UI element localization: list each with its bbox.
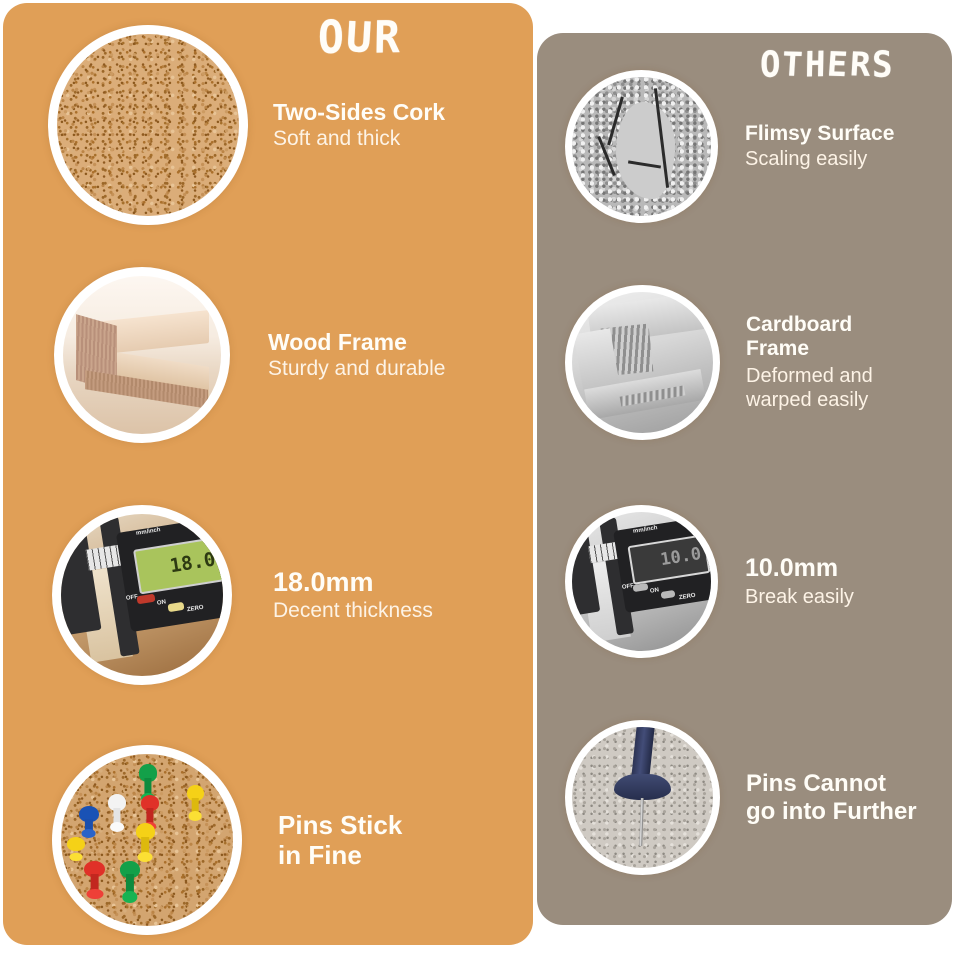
others-row-surface-subtitle: Scaling easily <box>745 147 894 171</box>
pin-green-lower <box>118 861 142 906</box>
our-row-wood: Wood Frame Sturdy and durable <box>54 267 514 443</box>
our-row-cork-subtitle: Soft and thick <box>273 126 445 151</box>
our-row-pins-title: Pins Stick <box>278 810 402 840</box>
others-row-pins: Pins Cannot go into Further <box>565 720 945 875</box>
our-row-wood-texts: Wood Frame Sturdy and durable <box>268 329 445 381</box>
caliper-18mm-image-circle: 18.0 mm/inch OFF ON ZERO <box>52 505 232 685</box>
pin-surface-photo <box>572 727 713 868</box>
others-row-pins-title: Pins Cannot <box>746 770 917 798</box>
others-row-pins-texts: Pins Cannot go into Further <box>746 770 917 826</box>
caliper-18mm-photo: 18.0 mm/inch OFF ON ZERO <box>61 514 223 676</box>
cork-photo <box>57 34 239 216</box>
pin-red-lower <box>82 861 108 902</box>
wood-frame-image-circle <box>54 267 230 443</box>
our-row-pins-subtitle: in Fine <box>278 840 402 870</box>
caliper-10mm-image-circle: 10.0 mm/inch OFF ON ZERO <box>565 505 718 658</box>
our-row-thickness-texts: 18.0mm Decent thickness <box>273 567 433 624</box>
pin-yellow-mid <box>133 823 157 864</box>
others-row-cardboard-texts: Cardboard Frame Deformed and warped easi… <box>746 313 873 413</box>
cork-image-circle <box>48 25 248 225</box>
our-row-cork: Two-Sides Cork Soft and thick <box>48 25 518 225</box>
cardboard-frame-image-circle <box>565 285 720 440</box>
wood-frame-photo <box>63 276 221 434</box>
caliper-10mm-photo: 10.0 mm/inch OFF ON ZERO <box>572 512 711 651</box>
others-row-thickness-title: 10.0mm <box>745 554 854 583</box>
others-row-surface-texts: Flimsy Surface Scaling easily <box>745 122 894 170</box>
others-row-cardboard-title: Cardboard Frame <box>746 313 873 362</box>
others-row-cardboard-subtitle: Deformed and warped easily <box>746 364 873 412</box>
others-row-thickness-texts: 10.0mm Break easily <box>745 554 854 609</box>
pin-blue <box>76 806 100 840</box>
flimsy-surface-image-circle <box>565 70 718 223</box>
our-row-wood-title: Wood Frame <box>268 329 445 356</box>
our-row-thickness-title: 18.0mm <box>273 567 433 598</box>
push-pins-image-circle <box>52 745 242 935</box>
pin-white <box>106 794 128 835</box>
our-row-cork-texts: Two-Sides Cork Soft and thick <box>273 99 445 151</box>
our-row-thickness: 18.0 mm/inch OFF ON ZERO 18.0mm Decent t… <box>52 505 517 685</box>
our-row-cork-title: Two-Sides Cork <box>273 99 445 126</box>
others-row-cardboard: Cardboard Frame Deformed and warped easi… <box>565 285 945 440</box>
others-row-thickness-subtitle: Break easily <box>745 585 854 609</box>
our-row-pins: Pins Stick in Fine <box>52 745 517 935</box>
others-row-thickness: 10.0 mm/inch OFF ON ZERO 10.0mm Break ea… <box>565 505 945 658</box>
others-row-surface: Flimsy Surface Scaling easily <box>565 70 945 223</box>
pin-surface-image-circle <box>565 720 720 875</box>
pin-yellow-right <box>185 785 206 823</box>
others-row-surface-title: Flimsy Surface <box>745 122 894 146</box>
our-row-thickness-subtitle: Decent thickness <box>273 598 433 623</box>
others-row-pins-subtitle: go into Further <box>746 798 917 826</box>
our-row-wood-subtitle: Sturdy and durable <box>268 356 445 381</box>
our-row-pins-texts: Pins Stick in Fine <box>278 810 402 870</box>
push-pins-photo <box>61 754 233 926</box>
cardboard-frame-photo <box>572 292 713 433</box>
flimsy-surface-photo <box>572 77 711 216</box>
